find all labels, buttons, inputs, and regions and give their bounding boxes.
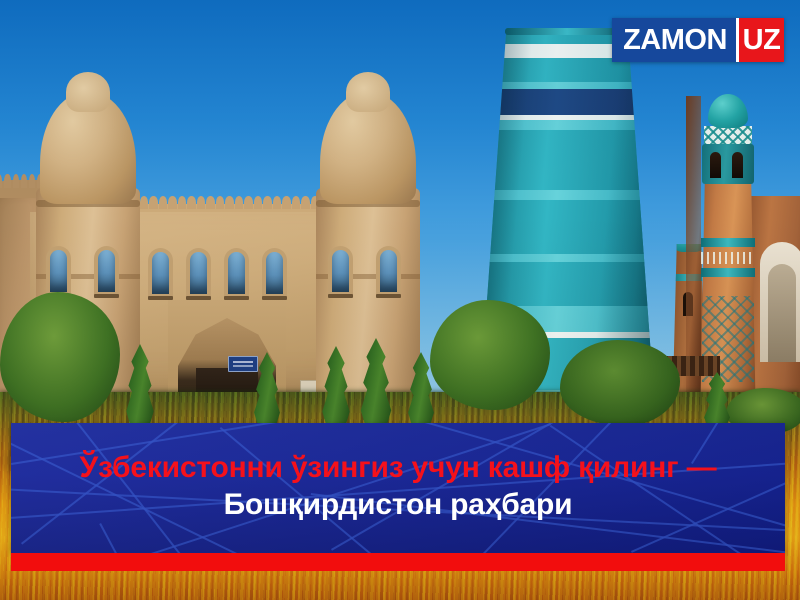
minaret-top-rim (505, 28, 629, 35)
arched-window (266, 252, 283, 294)
logo-uz-block: UZ (736, 18, 784, 62)
headline-text-block: Ўзбекистонни ўзингиз учун кашф қилинг — … (11, 423, 785, 553)
side-minaret-dome (708, 94, 748, 128)
arched-window (228, 252, 245, 294)
arched-window (152, 252, 169, 294)
cypress-tree (700, 372, 734, 426)
tile-band (701, 238, 755, 247)
red-accent-strip (11, 553, 785, 571)
tower-window (332, 250, 349, 292)
tower-window (50, 250, 67, 292)
gallery-arch (710, 152, 721, 178)
kufic-band (701, 252, 755, 264)
logo-zamon-block: ZAMON (612, 18, 736, 62)
cypress-tree (404, 352, 438, 424)
window-sill (94, 294, 119, 298)
headline-banner: Ўзбекистонни ўзингиз учун кашф қилинг — … (11, 423, 785, 553)
tree-cluster (0, 292, 120, 422)
headline-line-1: Ўзбекистонни ўзингиз учун кашф қилинг — (80, 452, 717, 484)
cypress-tree (250, 352, 284, 424)
tree-cluster (560, 340, 680, 426)
madrasah-iwan (760, 242, 800, 362)
tower-window (98, 250, 115, 292)
tree-cluster (430, 300, 550, 410)
cypress-tree (122, 344, 158, 424)
window-sill (328, 294, 353, 298)
window-sill (376, 294, 401, 298)
tile-band (701, 268, 755, 277)
logo-primary-text: ZAMON (623, 26, 727, 55)
minaret-back-wall (686, 96, 701, 396)
cypress-tree (318, 346, 354, 424)
gate-crenellations (130, 196, 320, 209)
zamon-uz-logo[interactable]: ZAMON UZ (612, 18, 784, 62)
tower-window (380, 250, 397, 292)
thumbnail-canvas: ZAMON UZ Ўзбекистонни ўзингиз учун к (0, 0, 800, 600)
headline-line-2: Бошқирдистон раҳбари (224, 489, 573, 521)
gallery-arch (732, 152, 743, 178)
side-minaret-tile-ring (704, 126, 752, 144)
logo-secondary-text: UZ (743, 26, 781, 55)
arched-window (190, 252, 207, 294)
cypress-tree (356, 338, 396, 424)
